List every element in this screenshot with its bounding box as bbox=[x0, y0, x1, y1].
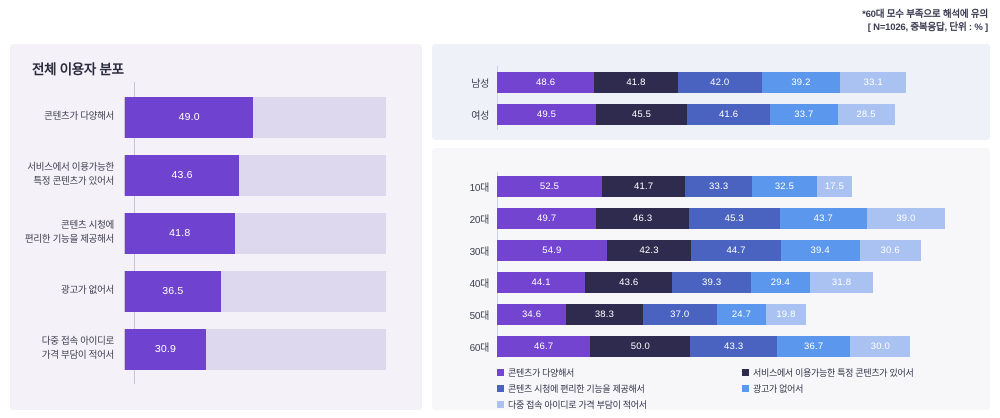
age-segment-value: 49.7 bbox=[537, 213, 556, 224]
overall-bar-label: 다중 접속 아이디로가격 부담이 적어서 bbox=[10, 335, 124, 363]
overall-bar-label-line: 콘텐츠 시청에 bbox=[10, 219, 114, 233]
overall-bar-track: 43.6 bbox=[124, 155, 386, 196]
age-stacked-bar: 54.942.344.739.430.6 bbox=[497, 240, 921, 261]
age-segment-value: 37.0 bbox=[670, 309, 689, 320]
age-segment-value: 41.7 bbox=[634, 181, 653, 192]
gender-segment-value: 39.2 bbox=[791, 77, 810, 88]
overall-bar-row: 서비스에서 이용가능한특정 콘텐츠가 있어서43.6 bbox=[10, 146, 422, 204]
age-segment-value: 30.6 bbox=[881, 245, 900, 256]
age-segment: 43.6 bbox=[585, 272, 672, 293]
overall-bar-value: 43.6 bbox=[171, 169, 192, 181]
gender-stacked-bar: 49.545.541.633.728.5 bbox=[497, 104, 895, 125]
age-segment: 32.5 bbox=[752, 176, 817, 197]
age-segment-value: 36.7 bbox=[804, 341, 823, 352]
panel-title-overall: 전체 이용자 분포 bbox=[32, 58, 124, 78]
gender-segment: 41.6 bbox=[687, 104, 770, 125]
overall-bar-row: 콘텐츠가 다양해서49.0 bbox=[10, 88, 422, 146]
chart-legend: 콘텐츠가 다양해서서비스에서 이용가능한 특정 콘텐츠가 있어서콘텐츠 시청에 … bbox=[497, 366, 987, 411]
gender-segment: 28.5 bbox=[838, 104, 895, 125]
overall-bar-track: 36.5 bbox=[124, 271, 386, 312]
age-segment-value: 38.3 bbox=[595, 309, 614, 320]
age-segment: 39.3 bbox=[672, 272, 751, 293]
age-label: 60대 bbox=[432, 339, 497, 354]
overall-bar-track: 30.9 bbox=[124, 329, 386, 370]
gender-segment-value: 45.5 bbox=[632, 109, 651, 120]
legend-swatch-icon bbox=[497, 401, 504, 408]
age-segment-value: 43.3 bbox=[724, 341, 743, 352]
age-segment: 54.9 bbox=[497, 240, 607, 261]
overall-bar-value: 41.8 bbox=[169, 227, 190, 239]
overall-bar-value: 49.0 bbox=[179, 111, 200, 123]
legend-item[interactable]: 서비스에서 이용가능한 특정 콘텐츠가 있어서 bbox=[742, 366, 987, 379]
legend-item[interactable]: 다중 접속 아이디로 가격 부담이 적어서 bbox=[497, 398, 742, 411]
overall-bar-row: 광고가 없어서36.5 bbox=[10, 262, 422, 320]
legend-label: 콘텐츠가 다양해서 bbox=[508, 366, 574, 379]
gender-segment-value: 33.1 bbox=[864, 77, 883, 88]
gender-segment: 49.5 bbox=[497, 104, 596, 125]
gender-segment-value: 28.5 bbox=[856, 109, 875, 120]
age-segment: 42.3 bbox=[607, 240, 692, 261]
gender-segment: 39.2 bbox=[762, 72, 840, 93]
header-note: *60대 모수 부족으로 해석에 유의 [ N=1026, 중복응답, 단위 :… bbox=[862, 8, 988, 34]
age-segment-value: 34.6 bbox=[522, 309, 541, 320]
age-segment: 50.0 bbox=[590, 336, 690, 357]
age-bar-rows: 10대52.541.733.332.517.520대49.746.345.343… bbox=[432, 170, 990, 362]
age-label: 40대 bbox=[432, 275, 497, 290]
age-segment-value: 52.5 bbox=[540, 181, 559, 192]
overall-bar-fill: 30.9 bbox=[125, 329, 206, 370]
gender-segment: 45.5 bbox=[596, 104, 687, 125]
gender-segment: 33.7 bbox=[770, 104, 837, 125]
age-segment: 45.3 bbox=[689, 208, 780, 229]
legend-item[interactable]: 광고가 없어서 bbox=[742, 382, 987, 395]
age-label: 30대 bbox=[432, 243, 497, 258]
age-segment-value: 29.4 bbox=[771, 277, 790, 288]
age-segment: 46.7 bbox=[497, 336, 590, 357]
overall-bar-rows: 콘텐츠가 다양해서49.0서비스에서 이용가능한특정 콘텐츠가 있어서43.6콘… bbox=[10, 88, 422, 378]
age-segment: 29.4 bbox=[751, 272, 810, 293]
gender-segment-value: 41.8 bbox=[626, 77, 645, 88]
overall-bar-label-line: 콘텐츠가 다양해서 bbox=[10, 110, 114, 124]
overall-bar-row: 다중 접속 아이디로가격 부담이 적어서30.9 bbox=[10, 320, 422, 378]
age-segment-value: 39.0 bbox=[896, 213, 915, 224]
age-row: 30대54.942.344.739.430.6 bbox=[432, 234, 990, 266]
age-segment-value: 42.3 bbox=[639, 245, 658, 256]
age-segment-value: 39.3 bbox=[702, 277, 721, 288]
age-segment-value: 32.5 bbox=[775, 181, 794, 192]
age-segment-value: 43.6 bbox=[619, 277, 638, 288]
gender-label: 남성 bbox=[432, 75, 497, 90]
age-segment: 24.7 bbox=[717, 304, 766, 325]
gender-segment: 41.8 bbox=[594, 72, 678, 93]
gender-segment: 48.6 bbox=[497, 72, 594, 93]
header-note-line1: *60대 모수 부족으로 해석에 유의 bbox=[862, 8, 988, 21]
legend-label: 콘텐츠 시청에 편리한 기능을 제공해서 bbox=[508, 382, 644, 395]
legend-swatch-icon bbox=[497, 369, 504, 376]
overall-bar-row: 콘텐츠 시청에편리한 기능을 제공해서41.8 bbox=[10, 204, 422, 262]
age-segment: 17.5 bbox=[817, 176, 852, 197]
overall-bar-track: 41.8 bbox=[124, 213, 386, 254]
gender-segment: 42.0 bbox=[678, 72, 762, 93]
overall-bar-fill: 49.0 bbox=[125, 97, 253, 138]
age-segment-value: 43.7 bbox=[814, 213, 833, 224]
chart-page: *60대 모수 부족으로 해석에 유의 [ N=1026, 중복응답, 단위 :… bbox=[0, 0, 1000, 418]
age-segment: 30.0 bbox=[850, 336, 910, 357]
age-segment-value: 24.7 bbox=[732, 309, 751, 320]
age-segment: 43.7 bbox=[780, 208, 867, 229]
overall-bar-fill: 43.6 bbox=[125, 155, 239, 196]
overall-bar-label: 광고가 없어서 bbox=[10, 284, 124, 298]
gender-segment-value: 49.5 bbox=[537, 109, 556, 120]
overall-bar-fill: 36.5 bbox=[125, 271, 221, 312]
age-segment-value: 46.7 bbox=[534, 341, 553, 352]
age-stacked-bar: 44.143.639.329.431.8 bbox=[497, 272, 873, 293]
gender-segment-value: 48.6 bbox=[536, 77, 555, 88]
age-segment: 43.3 bbox=[690, 336, 777, 357]
age-segment: 36.7 bbox=[777, 336, 850, 357]
gender-row: 여성49.545.541.633.728.5 bbox=[432, 98, 990, 130]
age-label: 10대 bbox=[432, 179, 497, 194]
overall-bar-value: 30.9 bbox=[155, 343, 176, 355]
age-stacked-bar: 52.541.733.332.517.5 bbox=[497, 176, 852, 197]
gender-segment: 33.1 bbox=[840, 72, 906, 93]
gender-distribution-panel: 남성48.641.842.039.233.1여성49.545.541.633.7… bbox=[432, 44, 990, 140]
gender-stacked-bar: 48.641.842.039.233.1 bbox=[497, 72, 906, 93]
age-segment: 39.0 bbox=[867, 208, 945, 229]
age-segment: 44.7 bbox=[691, 240, 780, 261]
overall-bar-fill: 41.8 bbox=[125, 213, 235, 254]
age-row: 10대52.541.733.332.517.5 bbox=[432, 170, 990, 202]
age-segment: 37.0 bbox=[643, 304, 717, 325]
age-segment: 19.8 bbox=[766, 304, 806, 325]
age-segment-value: 19.8 bbox=[776, 309, 795, 320]
age-segment-value: 39.4 bbox=[811, 245, 830, 256]
overall-bar-label: 서비스에서 이용가능한특정 콘텐츠가 있어서 bbox=[10, 161, 124, 189]
age-segment: 46.3 bbox=[596, 208, 689, 229]
overall-bar-label-line: 다중 접속 아이디로 bbox=[10, 335, 114, 349]
overall-bar-label-line: 특정 콘텐츠가 있어서 bbox=[10, 175, 114, 189]
age-segment-value: 54.9 bbox=[542, 245, 561, 256]
overall-bar-value: 36.5 bbox=[162, 285, 183, 297]
age-segment-value: 44.7 bbox=[726, 245, 745, 256]
overall-distribution-panel: 전체 이용자 분포 콘텐츠가 다양해서49.0서비스에서 이용가능한특정 콘텐츠… bbox=[10, 44, 422, 410]
age-row: 60대46.750.043.336.730.0 bbox=[432, 330, 990, 362]
age-segment: 38.3 bbox=[566, 304, 643, 325]
age-segment-value: 45.3 bbox=[725, 213, 744, 224]
header-note-line2: [ N=1026, 중복응답, 단위 : % ] bbox=[862, 21, 988, 34]
gender-bar-rows: 남성48.641.842.039.233.1여성49.545.541.633.7… bbox=[432, 66, 990, 130]
age-segment: 44.1 bbox=[497, 272, 585, 293]
age-stacked-bar: 49.746.345.343.739.0 bbox=[497, 208, 945, 229]
age-stacked-bar: 46.750.043.336.730.0 bbox=[497, 336, 910, 357]
age-segment: 34.6 bbox=[497, 304, 566, 325]
overall-bar-track: 49.0 bbox=[124, 97, 386, 138]
age-label: 50대 bbox=[432, 307, 497, 322]
legend-item[interactable]: 콘텐츠 시청에 편리한 기능을 제공해서 bbox=[497, 382, 742, 395]
gender-segment-value: 41.6 bbox=[719, 109, 738, 120]
overall-bar-label: 콘텐츠 시청에편리한 기능을 제공해서 bbox=[10, 219, 124, 247]
age-row: 40대44.143.639.329.431.8 bbox=[432, 266, 990, 298]
age-row: 20대49.746.345.343.739.0 bbox=[432, 202, 990, 234]
gender-label: 여성 bbox=[432, 107, 497, 122]
age-segment-value: 50.0 bbox=[631, 341, 650, 352]
legend-label: 서비스에서 이용가능한 특정 콘텐츠가 있어서 bbox=[753, 366, 913, 379]
age-segment: 31.8 bbox=[810, 272, 874, 293]
overall-bar-label: 콘텐츠가 다양해서 bbox=[10, 110, 124, 124]
legend-swatch-icon bbox=[742, 385, 749, 392]
age-distribution-panel: 10대52.541.733.332.517.520대49.746.345.343… bbox=[432, 148, 990, 410]
age-segment: 49.7 bbox=[497, 208, 596, 229]
age-label: 20대 bbox=[432, 211, 497, 226]
age-segment-value: 46.3 bbox=[633, 213, 652, 224]
age-segment-value: 30.0 bbox=[871, 341, 890, 352]
gender-row: 남성48.641.842.039.233.1 bbox=[432, 66, 990, 98]
age-segment-value: 44.1 bbox=[531, 277, 550, 288]
overall-bar-label-line: 편리한 기능을 제공해서 bbox=[10, 233, 114, 247]
age-stacked-bar: 34.638.337.024.719.8 bbox=[497, 304, 806, 325]
age-segment-value: 33.3 bbox=[709, 181, 728, 192]
age-segment-value: 17.5 bbox=[825, 181, 844, 192]
age-segment: 41.7 bbox=[602, 176, 685, 197]
age-segment: 39.4 bbox=[781, 240, 860, 261]
age-segment: 52.5 bbox=[497, 176, 602, 197]
age-segment-value: 31.8 bbox=[832, 277, 851, 288]
age-segment: 30.6 bbox=[860, 240, 921, 261]
gender-segment-value: 33.7 bbox=[794, 109, 813, 120]
legend-label: 다중 접속 아이디로 가격 부담이 적어서 bbox=[508, 398, 647, 411]
age-segment: 33.3 bbox=[685, 176, 752, 197]
legend-item[interactable]: 콘텐츠가 다양해서 bbox=[497, 366, 742, 379]
overall-bar-label-line: 서비스에서 이용가능한 bbox=[10, 161, 114, 175]
legend-label: 광고가 없어서 bbox=[753, 382, 803, 395]
overall-bar-label-line: 광고가 없어서 bbox=[10, 284, 114, 298]
gender-segment-value: 42.0 bbox=[710, 77, 729, 88]
age-row: 50대34.638.337.024.719.8 bbox=[432, 298, 990, 330]
legend-swatch-icon bbox=[742, 369, 749, 376]
legend-swatch-icon bbox=[497, 385, 504, 392]
overall-bar-label-line: 가격 부담이 적어서 bbox=[10, 349, 114, 363]
